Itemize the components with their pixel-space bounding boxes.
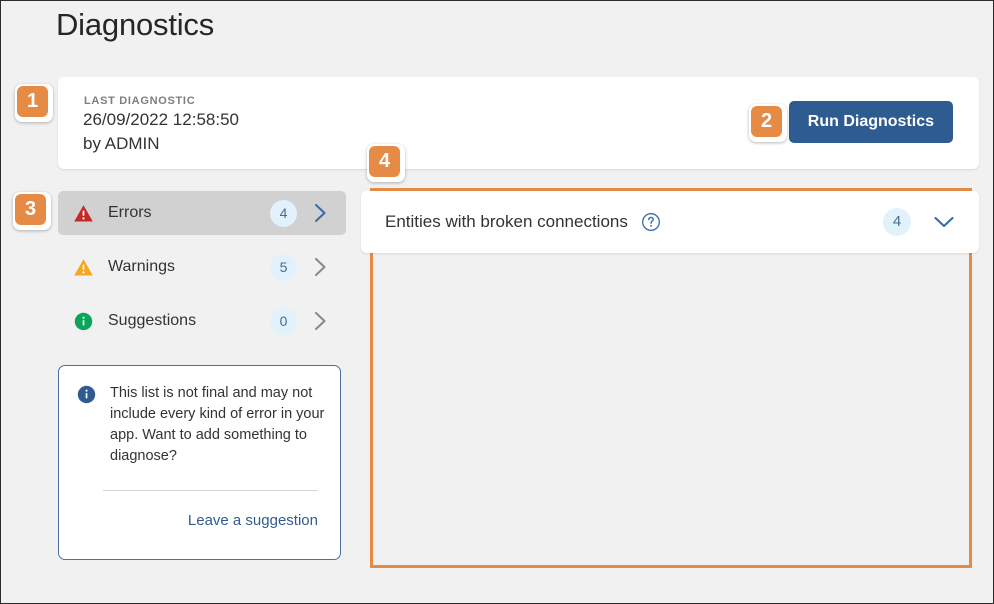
last-diagnostic-card: LAST DIAGNOSTIC 26/09/2022 12:58:50 by A… [58,77,979,169]
error-triangle-icon [72,202,94,224]
callout-number: 2 [751,106,782,137]
callout-badge-3: 3 [13,192,51,230]
chevron-right-icon[interactable] [308,203,332,223]
question-circle-icon[interactable] [641,212,661,232]
warning-triangle-icon [72,256,94,278]
info-circle-icon [72,310,94,332]
results-panel-header: Entities with broken connections 4 [373,191,967,253]
category-label: Errors [108,204,270,222]
suggestion-info-card: This list is not final and may not inclu… [58,365,341,560]
callout-badge-4: 4 [367,144,405,182]
diagnostic-categories-list: Errors 4 Warnings 5 [58,191,346,353]
callout-number: 3 [15,194,46,225]
last-diagnostic-label: LAST DIAGNOSTIC [84,95,195,107]
results-panel-title: Entities with broken connections [385,212,628,232]
page-title: Diagnostics [56,7,214,43]
callout-badge-2: 2 [749,104,787,142]
chevron-right-icon[interactable] [308,257,332,277]
category-count-badge: 0 [270,308,297,335]
leave-a-suggestion-link[interactable]: Leave a suggestion [188,512,318,529]
results-panel[interactable]: Entities with broken connections 4 [361,191,979,253]
suggestion-body: This list is not final and may not inclu… [77,383,326,467]
callout-badge-1: 1 [15,84,53,122]
category-row-warnings[interactable]: Warnings 5 [58,245,346,289]
run-diagnostics-button[interactable]: Run Diagnostics [789,101,953,143]
results-count-badge: 4 [883,208,911,236]
category-row-suggestions[interactable]: Suggestions 0 [58,299,346,343]
divider [103,490,318,491]
last-diagnostic-author: by ADMIN [83,134,160,154]
callout-number: 1 [17,86,48,117]
category-label: Warnings [108,258,270,276]
category-row-errors[interactable]: Errors 4 [58,191,346,235]
category-count-badge: 4 [270,200,297,227]
category-count-badge: 5 [270,254,297,281]
last-diagnostic-timestamp: 26/09/2022 12:58:50 [83,110,239,130]
chevron-down-icon[interactable] [933,215,955,229]
diagnostics-page: Diagnostics LAST DIAGNOSTIC 26/09/2022 1… [0,0,994,604]
info-circle-icon [77,385,97,467]
category-label: Suggestions [108,312,270,330]
chevron-right-icon[interactable] [308,311,332,331]
suggestion-text: This list is not final and may not inclu… [110,383,326,467]
callout-number: 4 [369,146,400,177]
